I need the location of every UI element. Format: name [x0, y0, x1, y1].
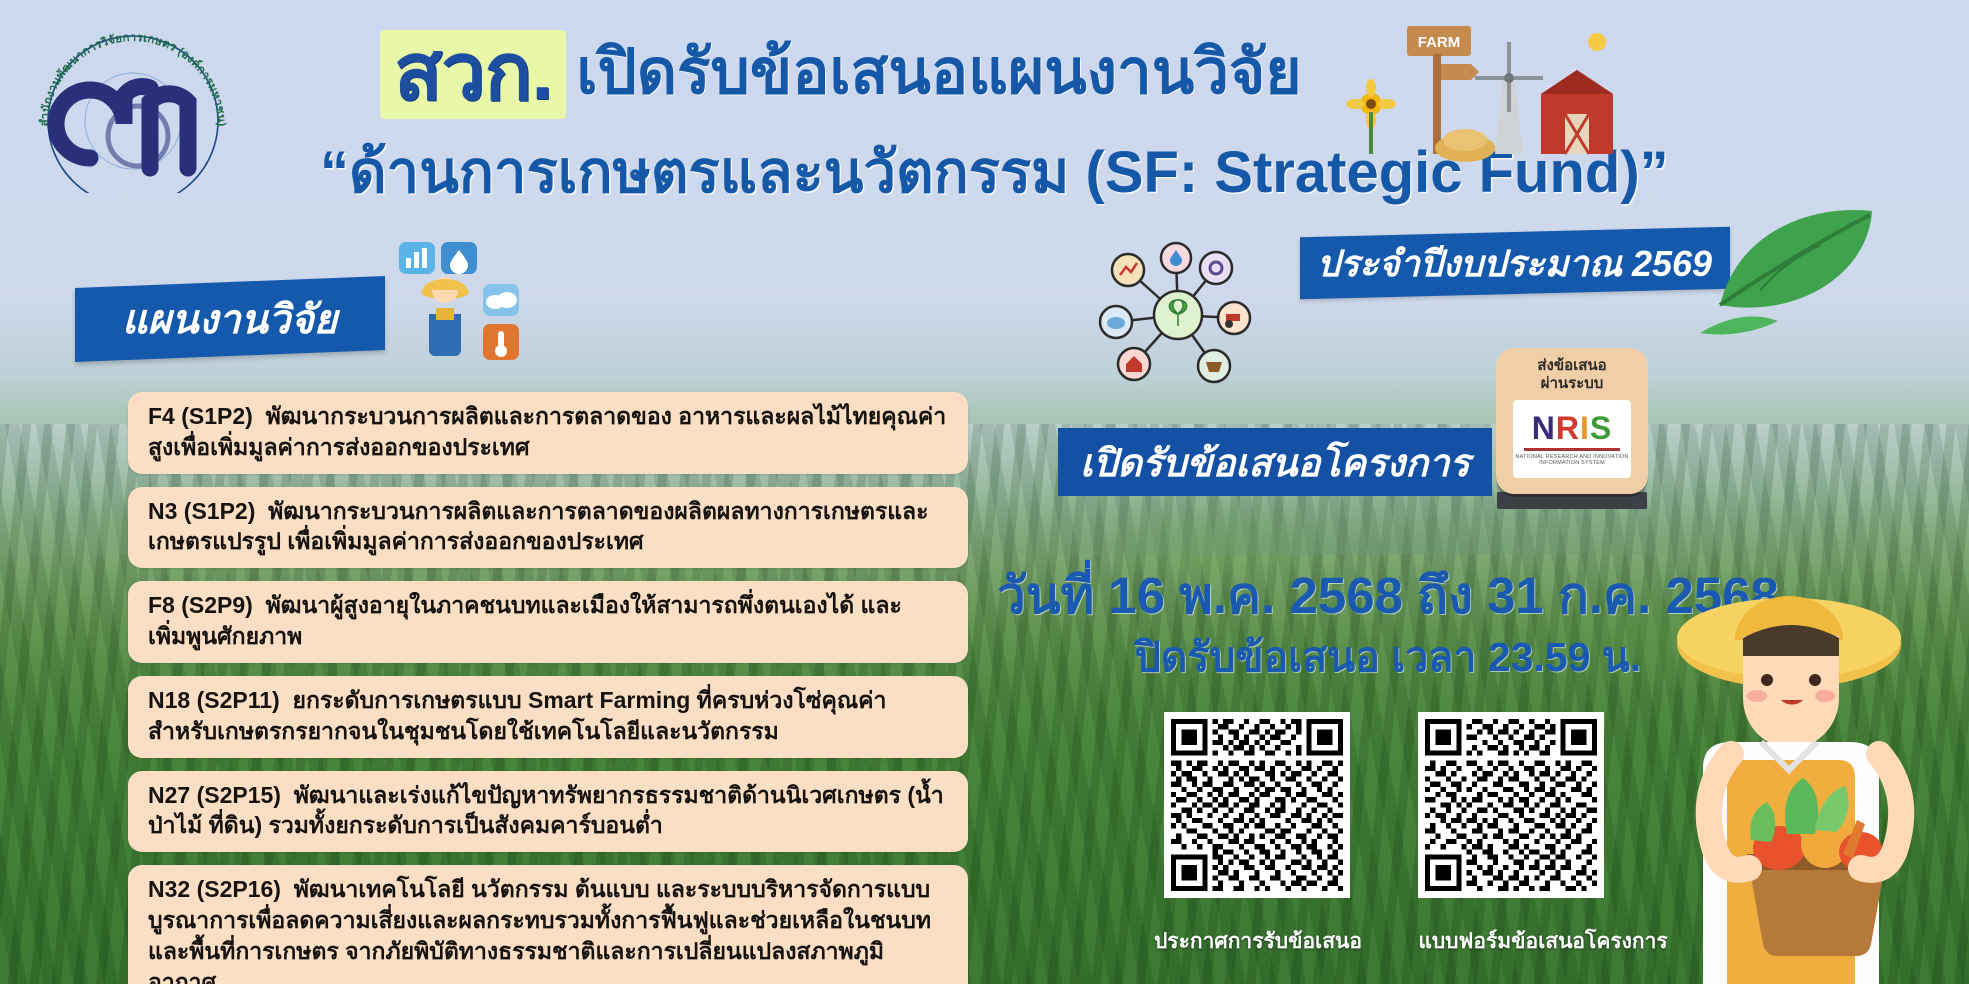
list-item[interactable]: N27 (S2P15) พัฒนาและเร่งแก้ไขปัญหาทรัพยา… — [128, 771, 968, 853]
agri-icon-cluster-left — [395, 238, 555, 378]
plan-text: พัฒนากระบวนการผลิตและการตลาดของ อาหารและ… — [148, 403, 946, 460]
svg-text:FARM: FARM — [1418, 34, 1461, 51]
nris-submission-card[interactable]: ส่งข้อเสนอ ผ่านระบบ NRIS NATIONAL RESEAR… — [1496, 348, 1648, 494]
list-item[interactable]: F4 (S1P2) พัฒนากระบวนการผลิตและการตลาดขอ… — [128, 392, 968, 474]
submission-caption-line2: ผ่านระบบ — [1496, 375, 1648, 393]
plan-code: N3 (S1P2) — [148, 498, 255, 524]
nris-card-shadow — [1497, 492, 1647, 509]
research-plan-badge-label: แผนงานวิจัย — [122, 287, 337, 351]
plan-text: พัฒนาผู้สูงอายุในภาคชนบทและเมืองให้สามาร… — [148, 592, 902, 649]
plan-code: N32 (S2P16) — [148, 876, 281, 902]
announcement-qr-image — [1171, 719, 1343, 891]
sun-icon — [1588, 33, 1606, 51]
water-drop-icon — [441, 242, 477, 274]
plan-text: พัฒนากระบวนการผลิตและการตลาดของผลิตผลทาง… — [148, 498, 929, 555]
research-plan-list: F4 (S1P2) พัฒนากระบวนการผลิตและการตลาดขอ… — [128, 392, 968, 984]
cloud-icon — [483, 284, 519, 316]
plan-code: F4 (S1P2) — [148, 403, 253, 429]
submission-caption-line1: ส่งข้อเสนอ — [1496, 357, 1648, 375]
chart-icon — [399, 242, 435, 274]
fiscal-year-label: ประจำปีงบประมาณ 2569 — [1317, 235, 1712, 292]
thermometer-icon — [483, 324, 519, 360]
gear-icon — [1200, 252, 1232, 284]
plan-code: N27 (S2P15) — [148, 782, 281, 808]
open-call-banner: เปิดรับข้อเสนอโครงการ — [1058, 428, 1492, 496]
haystack-icon — [1435, 129, 1495, 162]
leaf-decoration — [1700, 205, 1880, 335]
proposal-form-qr[interactable] — [1418, 712, 1604, 898]
nris-logo: NRIS NATIONAL RESEARCH AND INNOVATION IN… — [1513, 400, 1631, 478]
research-plan-badge: แผนงานวิจัย — [75, 276, 385, 362]
list-item[interactable]: N32 (S2P16) พัฒนาเทคโนโลยี นวัตกรรม ต้นแ… — [128, 865, 968, 984]
sunflower-icon — [1346, 79, 1396, 154]
plan-code: F8 (S2P9) — [148, 592, 253, 618]
list-item[interactable]: N18 (S2P11) ยกระดับการเกษตรแบบ Smart Far… — [128, 676, 968, 758]
plan-code: N18 (S2P11) — [148, 687, 280, 713]
announcement-qr[interactable] — [1164, 712, 1350, 898]
nris-subtitle: NATIONAL RESEARCH AND INNOVATION INFORMA… — [1513, 454, 1631, 466]
open-call-label: เปิดรับข้อเสนอโครงการ — [1080, 432, 1470, 493]
leaf-icon — [1720, 210, 1872, 308]
proposal-form-qr-image — [1425, 719, 1597, 891]
farm-scene-illustration: FARM — [1345, 8, 1615, 168]
fiscal-year-ribbon: ประจำปีงบประมาณ 2569 — [1300, 227, 1730, 300]
title-main: เปิดรับข้อเสนอแผนงานวิจัย — [576, 38, 1301, 107]
list-item[interactable]: N3 (S1P2) พัฒนากระบวนการผลิตและการตลาดขอ… — [128, 487, 968, 569]
title-acronym-highlight: สวก. — [380, 30, 566, 119]
agri-icon-cluster-right — [1098, 240, 1258, 390]
barn-icon — [1541, 70, 1613, 154]
svk-logo: สำนักงานพัฒนาการวิจัยการเกษตร (องค์การมห… — [28, 18, 238, 193]
poster-canvas: สำนักงานพัฒนาการวิจัยการเกษตร (องค์การมห… — [0, 0, 1969, 984]
farmer-girl-illustration — [1639, 554, 1969, 984]
farmer-icon — [421, 277, 469, 356]
nris-underline — [1524, 448, 1620, 451]
list-item[interactable]: F8 (S2P9) พัฒนาผู้สูงอายุในภาคชนบทและเมื… — [128, 581, 968, 663]
announcement-qr-caption: ประกาศการรับข้อเสนอ — [1098, 925, 1418, 958]
nris-wordmark: NRIS — [1532, 412, 1612, 444]
